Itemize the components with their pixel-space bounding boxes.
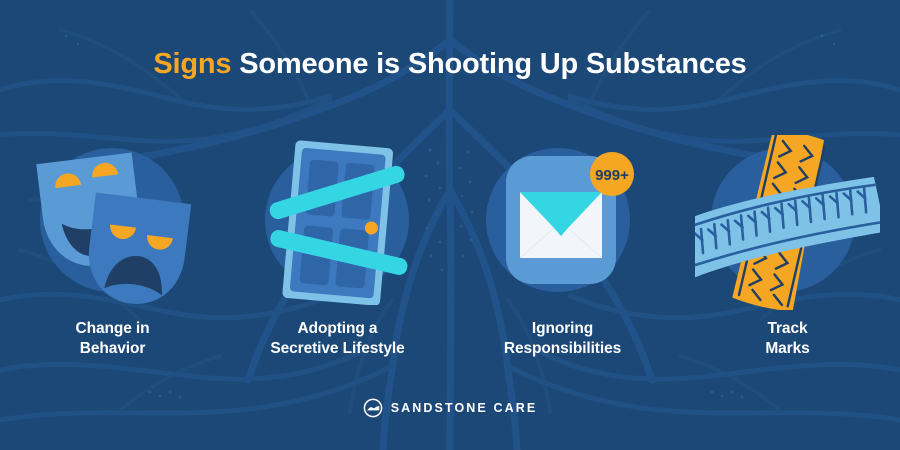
card-label-change-in-behavior: Change in Behavior — [75, 319, 149, 359]
page-title-rest: Someone is Shooting Up Substances — [231, 48, 746, 80]
mail-app-icon: 999+ — [470, 140, 655, 305]
icon-wrap-track-marks — [695, 140, 880, 305]
infographic-canvas: Signs Someone is Shooting Up Substances — [0, 0, 900, 450]
page-title: Signs Someone is Shooting Up Substances — [0, 48, 900, 81]
icon-wrap-adopting-a-secretive-lifestyle — [245, 140, 430, 305]
notification-badge-count: 999+ — [595, 167, 629, 184]
page-title-accent: Signs — [153, 48, 231, 80]
card-change-in-behavior[interactable]: Change in Behavior — [0, 140, 225, 370]
card-label-ignoring-responsibilities: Ignoring Responsibilities — [504, 319, 621, 359]
card-track-marks[interactable]: Track Marks — [675, 140, 900, 370]
footer-logo: SANDSTONE CARE — [0, 398, 900, 418]
card-adopting-a-secretive-lifestyle[interactable]: Adopting a Secretive Lifestyle — [225, 140, 450, 370]
card-ignoring-responsibilities[interactable]: 999+ Ignoring Responsibilities — [450, 140, 675, 370]
card-label-adopting-a-secretive-lifestyle: Adopting a Secretive Lifestyle — [270, 319, 404, 359]
theater-masks-icon — [20, 140, 205, 305]
icon-wrap-ignoring-responsibilities: 999+ — [470, 140, 655, 305]
brand-name: SANDSTONE CARE — [391, 401, 538, 415]
notification-badge: 999+ — [590, 152, 634, 196]
card-label-track-marks: Track Marks — [765, 319, 809, 359]
track-marks-icon — [695, 135, 880, 310]
sandstone-care-logo-icon — [363, 398, 383, 418]
signs-list: Change in Behavior — [0, 140, 900, 370]
icon-wrap-change-in-behavior — [20, 140, 205, 305]
envelope-icon — [520, 192, 602, 258]
boarded-door-icon — [245, 140, 430, 305]
